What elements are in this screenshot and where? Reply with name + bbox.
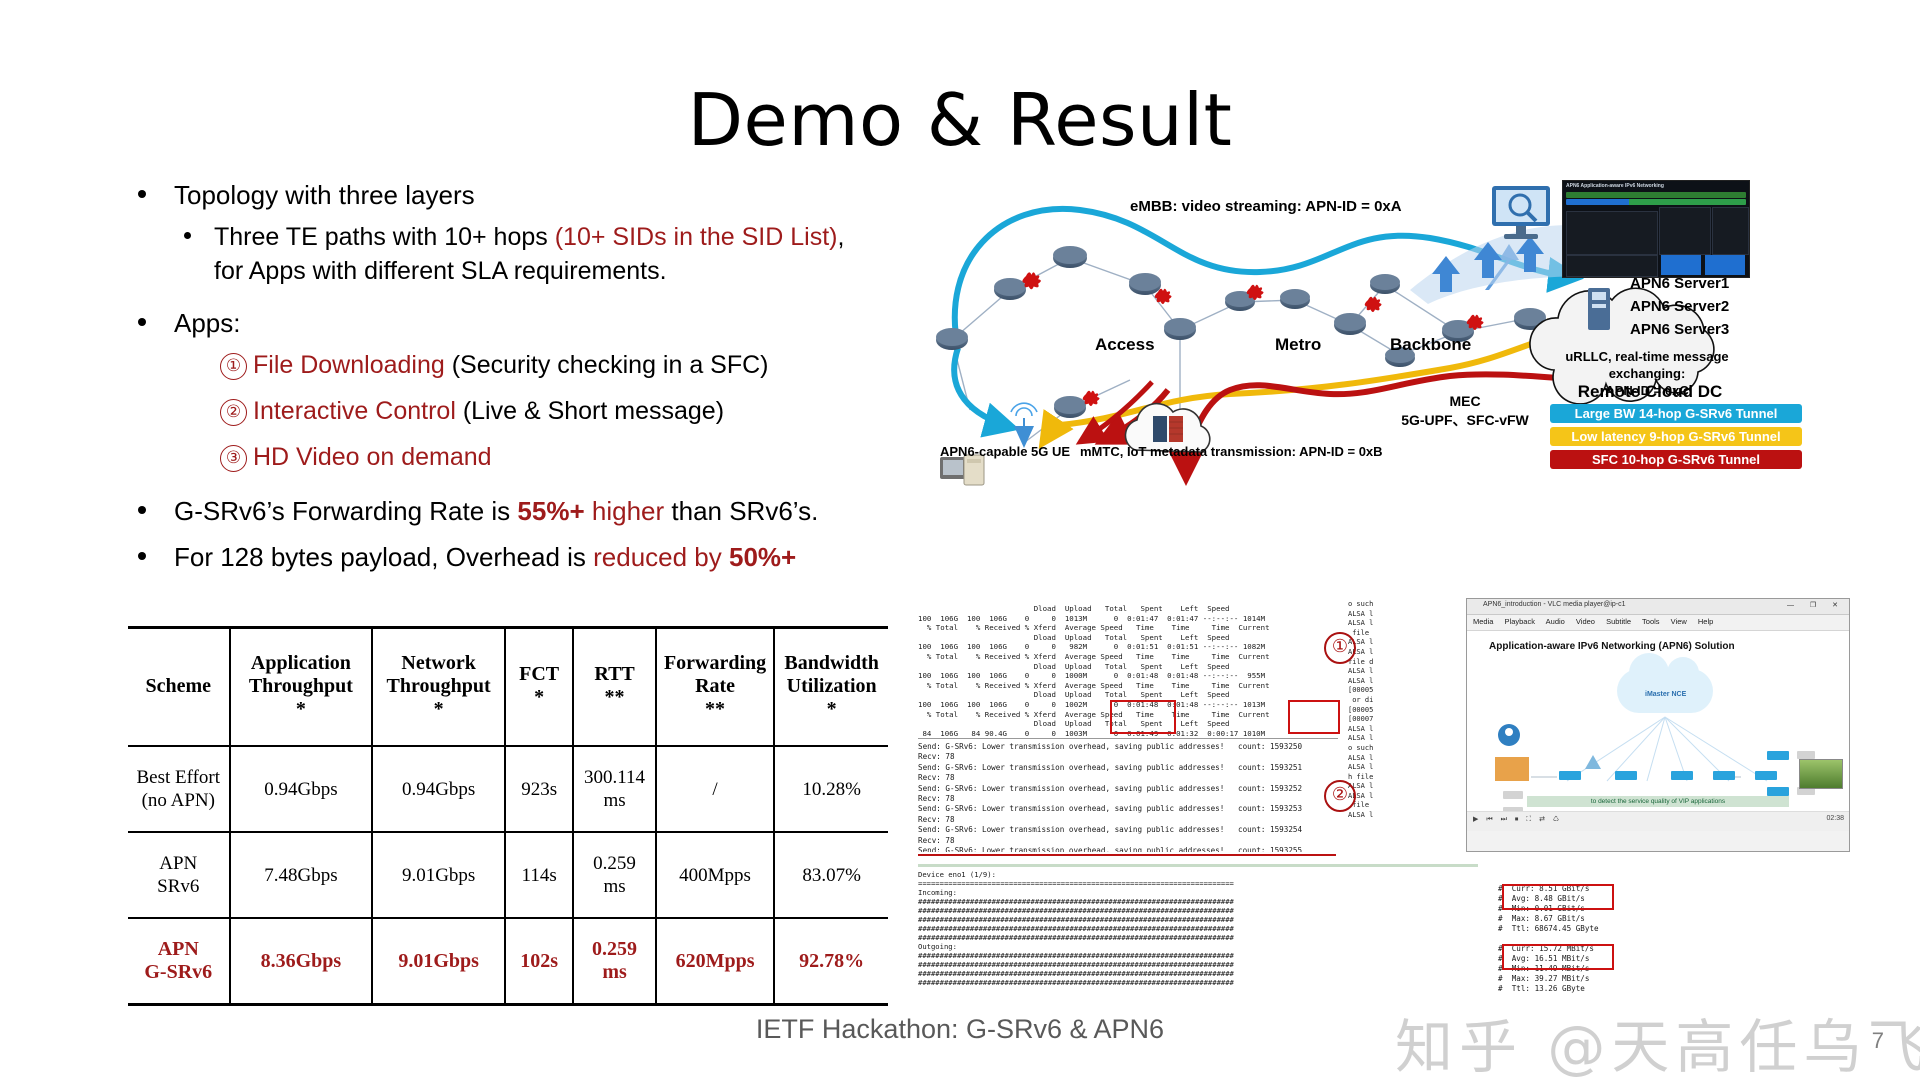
vlc-menubar[interactable]: Media Playback Audio Video Subtitle Tool…	[1467, 615, 1849, 631]
vlc-control-bar[interactable]: ▶ ⏮ ⏭ ⏹ ⛶ ⇄ ♺ 02:38	[1467, 811, 1849, 831]
vlc-titlebar[interactable]: APN6_introduction - VLC media player@ip-…	[1467, 599, 1849, 615]
bullet-dot-icon	[184, 232, 191, 239]
table-row: APN SRv6 7.48Gbps 9.01Gbps 114s 0.259 ms…	[128, 832, 888, 918]
vlc-menu-playback[interactable]: Playback	[1505, 617, 1535, 626]
app-1-name: File Downloading	[253, 351, 445, 379]
tunnel-legend: Large BW 14-hop G-SRv6 Tunnel Low latenc…	[1550, 404, 1802, 473]
highlight-box-mbit	[1502, 944, 1614, 970]
vlc-transport-icons[interactable]: ▶ ⏮ ⏭ ⏹ ⛶ ⇄ ♺	[1473, 816, 1562, 823]
app-item-3: ③HD Video on demand	[220, 434, 888, 480]
bullet-te-paths: Three TE paths with 10+ hops (10+ SIDs i…	[128, 220, 888, 288]
vlc-menu-tools[interactable]: Tools	[1642, 617, 1660, 626]
fwd-rate-post: than SRv6’s.	[664, 496, 818, 526]
marker-circle-2: ②	[1324, 780, 1356, 812]
dashboard-topology-panel	[1659, 207, 1711, 255]
label-mec: MEC 5G-UPF、SFC-vFW	[1390, 392, 1540, 430]
topology-diagram: eMBB: video streaming: APN-ID = 0xA Acce…	[930, 180, 1890, 580]
cell-scheme: APN G-SRv6	[128, 918, 230, 1005]
cell-fct: 102s	[505, 918, 573, 1005]
bullet-dot-icon	[138, 318, 146, 326]
controller-dashboard-thumbnail: APN6 Application-aware IPv6 Networking	[1562, 180, 1750, 278]
app-item-1: ①File Downloading (Security checking in …	[220, 342, 888, 388]
cell-fct: 114s	[505, 832, 573, 918]
vlc-window-title: APN6_introduction - VLC media player@ip-…	[1483, 601, 1626, 608]
th-rtt: RTT **	[573, 628, 655, 747]
cell-forwarding-rate: 620Mpps	[656, 918, 775, 1005]
node-rtr-5	[1755, 771, 1777, 780]
app-3-name: HD Video on demand	[253, 443, 492, 471]
fwd-rate-higher: higher	[585, 496, 665, 526]
th-application-throughput: Application Throughput *	[230, 628, 373, 747]
node-svc-1	[1767, 751, 1789, 760]
label-5g-ue: APN6-capable 5G UE	[940, 444, 1070, 459]
vlc-window-controls[interactable]: — ❐ ✕	[1787, 601, 1845, 609]
dashboard-bar-green	[1566, 192, 1746, 198]
cell-app-throughput: 7.48Gbps	[230, 832, 373, 918]
slide-root: Demo & Result Topology with three layers…	[0, 0, 1920, 1080]
app-item-2: ②Interactive Control (Live & Short messa…	[220, 388, 888, 434]
label-access-layer: Access	[1095, 335, 1155, 355]
app-1-note: (Security checking in a SFC)	[445, 351, 769, 379]
demo-screenshot-collage: Dload Upload Total Spent Left Speed 100 …	[918, 592, 1893, 1012]
cell-app-throughput: 8.36Gbps	[230, 918, 373, 1005]
apps-label: Apps:	[174, 308, 241, 338]
cell-app-throughput: 0.94Gbps	[230, 746, 373, 832]
overhead-pre: For 128 bytes payload, Overhead is	[174, 542, 593, 572]
bullet-forwarding-rate: G-SRv6’s Forwarding Rate is 55%+ higher …	[128, 494, 888, 528]
cell-rtt: 0.259 ms	[573, 918, 655, 1005]
imaster-cloud-label: iMaster NCE	[1645, 691, 1686, 698]
legend-item-sfc: SFC 10-hop G-SRv6 Tunnel	[1550, 450, 1802, 469]
divider-device	[918, 864, 1478, 867]
te-paths-text: Three TE paths with 10+ hops	[214, 223, 555, 251]
legend-item-large-bw: Large BW 14-hop G-SRv6 Tunnel	[1550, 404, 1802, 423]
cell-scheme: APN SRv6	[128, 832, 230, 918]
th-fct: FCT *	[505, 628, 573, 747]
node-rtr-1	[1559, 771, 1581, 780]
send-recv-terminal: Send: G-SRv6: Lower transmission overhea…	[918, 742, 1338, 852]
highlight-box-gbit	[1502, 884, 1614, 910]
vlc-caption-banner: to detect the service quality of VIP app…	[1527, 796, 1789, 807]
cell-fct: 923s	[505, 746, 573, 832]
label-backbone-layer: Backbone	[1390, 335, 1471, 355]
alsa-log-terminal: o such ALSA l ALSA l file ALSA l ALSA l …	[1348, 600, 1468, 850]
fwd-rate-pre: G-SRv6’s Forwarding Rate is	[174, 496, 517, 526]
th-bandwidth-utilization: Bandwidth Utilization *	[774, 628, 888, 747]
cell-net-throughput: 0.94Gbps	[372, 746, 505, 832]
node-svc-2	[1767, 787, 1789, 796]
circled-number-3-icon: ③	[220, 445, 247, 472]
dashboard-bar-mixed	[1566, 199, 1746, 205]
dashboard-gauge-panel	[1712, 207, 1749, 255]
te-paths-sid-note: (10+ SIDs in the SID List)	[555, 223, 838, 251]
te-paths-comma: ,	[837, 223, 844, 251]
bullet-topology: Topology with three layers	[128, 178, 888, 212]
page-title: Demo & Result	[0, 78, 1920, 162]
label-apn6-servers: APN6 Server1 APN6 Server2 APN6 Server3	[1630, 272, 1729, 341]
cell-bandwidth-utilization: 10.28%	[774, 746, 888, 832]
label-embb: eMBB: video streaming: APN-ID = 0xA	[1130, 198, 1402, 215]
marker-circle-1: ①	[1324, 632, 1356, 664]
label-metro-layer: Metro	[1275, 335, 1321, 355]
dashboard-chart-panel	[1566, 211, 1658, 255]
overhead-value: 50%+	[729, 542, 796, 572]
controller-monitor-icon	[1486, 184, 1560, 248]
circled-number-1-icon: ①	[220, 353, 247, 380]
table-header-row: Scheme Application Throughput * Network …	[128, 628, 888, 747]
cell-bandwidth-utilization: 92.78%	[774, 918, 888, 1005]
bullet-topology-label: Topology with three layers	[174, 180, 475, 210]
bullet-overhead: For 128 bytes payload, Overhead is reduc…	[128, 540, 888, 574]
vlc-video-area: Application-aware IPv6 Networking (APN6)…	[1467, 631, 1849, 831]
cell-bandwidth-utilization: 83.07%	[774, 832, 888, 918]
video-thumbnail	[1799, 759, 1843, 789]
bullet-dot-icon	[138, 190, 146, 198]
divider-curl	[918, 738, 1338, 739]
vlc-menu-video[interactable]: Video	[1576, 617, 1595, 626]
label-remote-cloud-dc: Remote Cloud DC	[1570, 382, 1730, 402]
cell-net-throughput: 9.01Gbps	[372, 832, 505, 918]
vlc-menu-view[interactable]: View	[1671, 617, 1687, 626]
te-paths-line2: for Apps with different SLA requirements…	[214, 254, 888, 288]
node-rtr-3	[1671, 771, 1693, 780]
dashboard-title: APN6 Application-aware IPv6 Networking	[1563, 181, 1749, 191]
slide-footer: IETF Hackathon: G-SRv6 & APN6	[0, 1014, 1920, 1045]
apps-items: ①File Downloading (Security checking in …	[174, 342, 888, 480]
vlc-menu-help[interactable]: Help	[1698, 617, 1713, 626]
node-tag-1	[1797, 751, 1815, 759]
overhead-red: reduced by	[593, 542, 729, 572]
bullet-list: Topology with three layers Three TE path…	[128, 178, 888, 582]
cell-scheme: Best Effort (no APN)	[128, 746, 230, 832]
cell-net-throughput: 9.01Gbps	[372, 918, 505, 1005]
app-2-note: (Live & Short message)	[456, 397, 724, 425]
bullet-apps: Apps: ①File Downloading (Security checki…	[128, 306, 888, 480]
legend-item-low-latency: Low latency 9-hop G-SRv6 Tunnel	[1550, 427, 1802, 446]
cell-forwarding-rate: /	[656, 746, 775, 832]
th-forwarding-rate: Forwarding Rate **	[656, 628, 775, 747]
circled-number-2-icon: ②	[220, 399, 247, 426]
th-network-throughput: Network Throughput *	[372, 628, 505, 747]
node-rtr-2	[1615, 771, 1637, 780]
table-row: Best Effort (no APN) 0.94Gbps 0.94Gbps 9…	[128, 746, 888, 832]
vlc-media-player-window[interactable]: APN6_introduction - VLC media player@ip-…	[1466, 598, 1850, 852]
table-row-highlighted: APN G-SRv6 8.36Gbps 9.01Gbps 102s 0.259 …	[128, 918, 888, 1005]
bullet-dot-icon	[138, 506, 146, 514]
underline-send-log	[918, 854, 1336, 856]
vlc-menu-subtitle[interactable]: Subtitle	[1606, 617, 1631, 626]
vlc-menu-audio[interactable]: Audio	[1546, 617, 1565, 626]
page-number: 7	[1872, 1028, 1884, 1054]
cell-rtt: 300.114 ms	[573, 746, 655, 832]
highlight-box-speed	[1288, 700, 1340, 734]
metrics-table: Scheme Application Throughput * Network …	[128, 626, 888, 1006]
cell-rtt: 0.259 ms	[573, 832, 655, 918]
fwd-rate-value: 55%+	[517, 496, 584, 526]
highlight-box-dload	[1110, 700, 1176, 734]
bullet-dot-icon	[138, 552, 146, 560]
label-mmtc: mMTC, IoT metadata transmission: APN-ID …	[1080, 444, 1383, 459]
vlc-time-display: 02:38	[1826, 815, 1844, 822]
node-rtr-4	[1713, 771, 1735, 780]
vlc-menu-media[interactable]: Media	[1473, 617, 1493, 626]
th-scheme: Scheme	[128, 628, 230, 747]
cell-forwarding-rate: 400Mpps	[656, 832, 775, 918]
device-bandwidth-terminal: Device eno1 (1/9): =====================…	[918, 870, 1478, 1000]
node-app-1	[1503, 791, 1523, 799]
app-2-name: Interactive Control	[253, 397, 456, 425]
